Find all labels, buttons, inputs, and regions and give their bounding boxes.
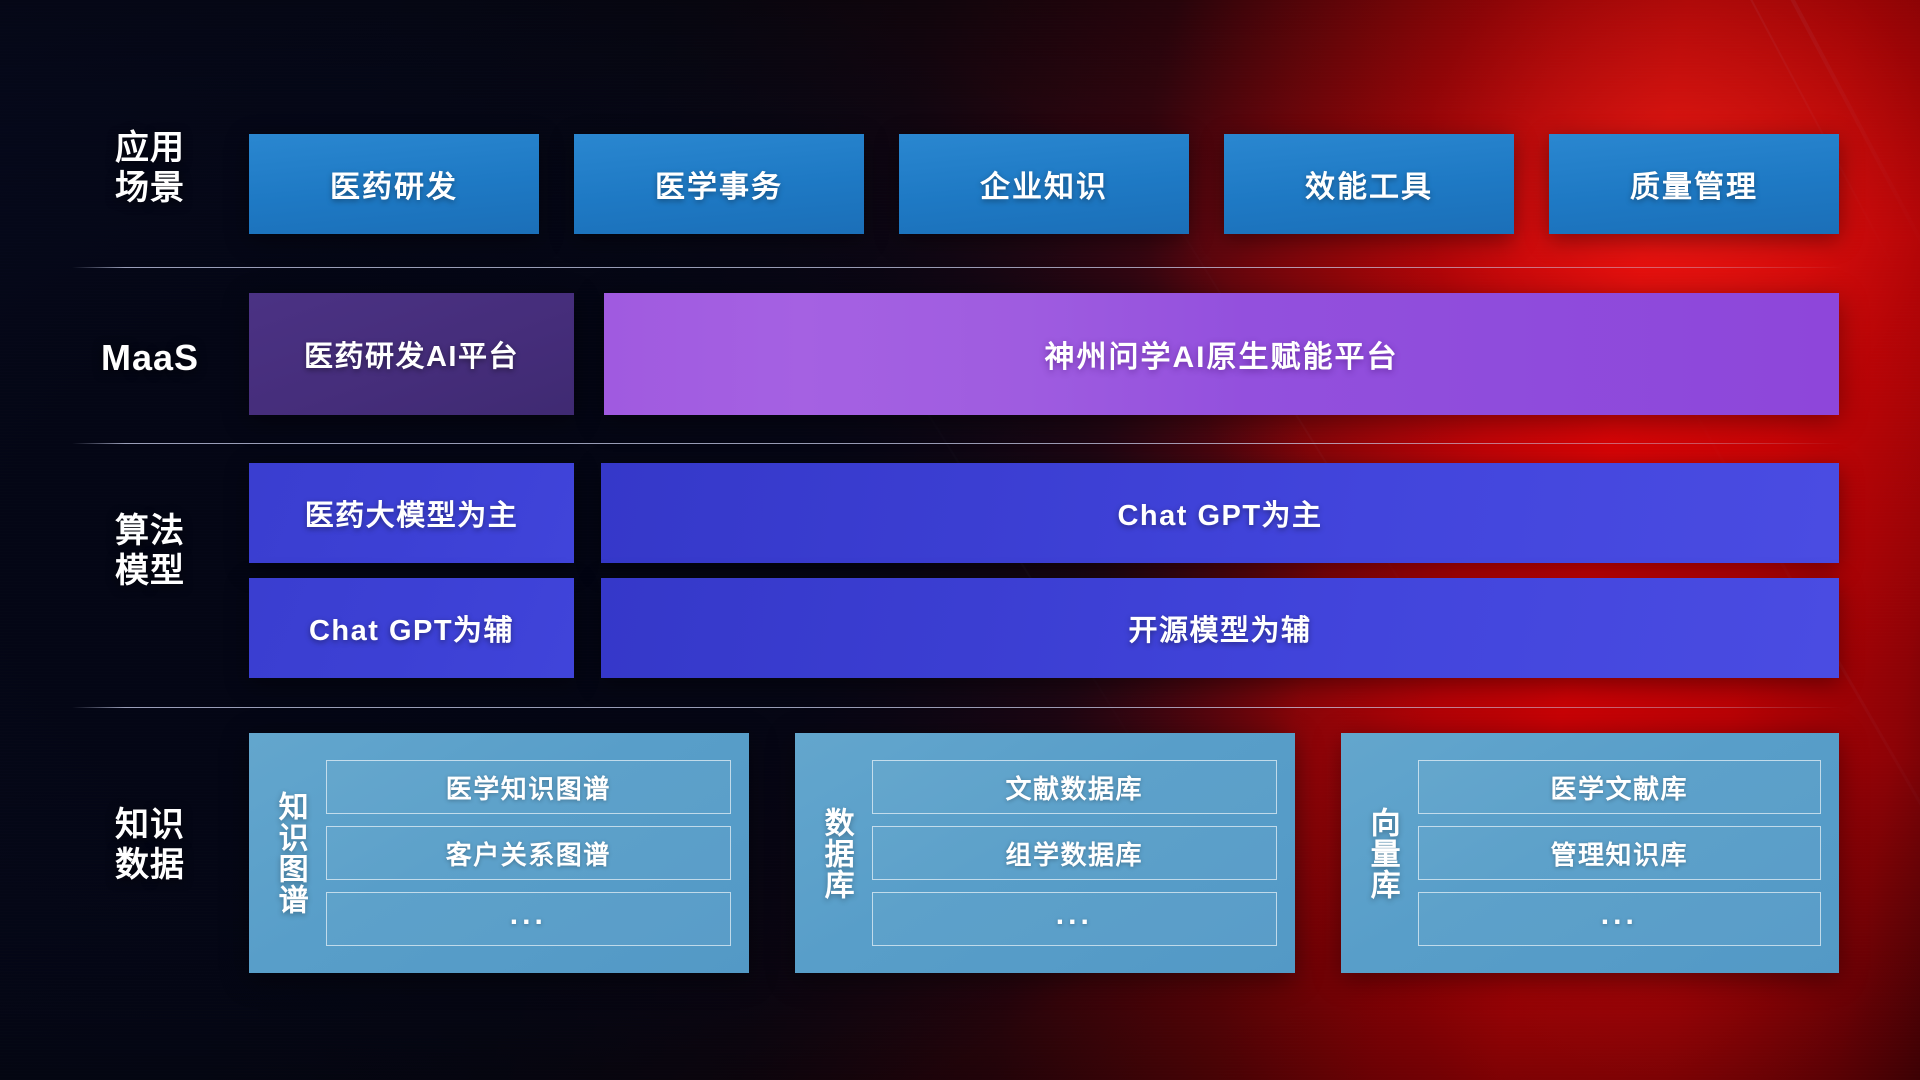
app-scenario-box-1[interactable]: 医药研发: [249, 134, 539, 234]
app-scenario-box-5[interactable]: 质量管理: [1549, 134, 1839, 234]
algo-box-chatgpt-primary[interactable]: Chat GPT为主: [601, 463, 1839, 563]
knowledge-item[interactable]: 医学知识图谱: [326, 760, 731, 814]
knowledge-item[interactable]: 组学数据库: [872, 826, 1277, 880]
knowledge-item[interactable]: 医学文献库: [1418, 760, 1821, 814]
knowledge-panel-vector-store[interactable]: 向量库 医学文献库 管理知识库 ...: [1341, 733, 1839, 973]
knowledge-panel-knowledge-graph[interactable]: 知识图谱 医学知识图谱 客户关系图谱 ...: [249, 733, 749, 973]
knowledge-item-more[interactable]: ...: [872, 892, 1277, 946]
row-label-application-scenarios: 应用 场景: [75, 128, 225, 208]
app-scenario-box-3[interactable]: 企业知识: [899, 134, 1189, 234]
knowledge-panel-label-database: 数据库: [817, 753, 854, 953]
knowledge-panel-database[interactable]: 数据库 文献数据库 组学数据库 ...: [795, 733, 1295, 973]
knowledge-item[interactable]: 客户关系图谱: [326, 826, 731, 880]
app-scenario-box-4[interactable]: 效能工具: [1224, 134, 1514, 234]
divider-after-maas: [72, 443, 1842, 444]
maas-box-shenzhou-wenxue-platform[interactable]: 神州问学AI原生赋能平台: [604, 293, 1839, 415]
divider-after-application-scenarios: [72, 267, 1842, 268]
algo-box-medical-large-model-primary[interactable]: 医药大模型为主: [249, 463, 574, 563]
diagram-canvas: 应用 场景 医药研发 医学事务 企业知识 效能工具 质量管理 MaaS 医药研发…: [0, 0, 1920, 1080]
knowledge-panel-label-knowledge-graph: 知识图谱: [271, 753, 308, 953]
knowledge-item-list-vector-store: 医学文献库 管理知识库 ...: [1418, 760, 1821, 946]
maas-box-medical-ai-platform[interactable]: 医药研发AI平台: [249, 293, 574, 415]
knowledge-item[interactable]: 文献数据库: [872, 760, 1277, 814]
knowledge-item-list-knowledge-graph: 医学知识图谱 客户关系图谱 ...: [326, 760, 731, 946]
algo-box-opensource-secondary[interactable]: 开源模型为辅: [601, 578, 1839, 678]
row-label-knowledge-data: 知识 数据: [75, 805, 225, 885]
knowledge-item-more[interactable]: ...: [1418, 892, 1821, 946]
knowledge-item-list-database: 文献数据库 组学数据库 ...: [872, 760, 1277, 946]
knowledge-item-more[interactable]: ...: [326, 892, 731, 946]
divider-after-algorithm-models: [72, 707, 1842, 708]
row-label-maas: MaaS: [75, 337, 225, 379]
row-label-algorithm-models: 算法 模型: [75, 511, 225, 591]
knowledge-panel-label-vector-store: 向量库: [1363, 753, 1400, 953]
algo-box-chatgpt-secondary[interactable]: Chat GPT为辅: [249, 578, 574, 678]
app-scenario-box-2[interactable]: 医学事务: [574, 134, 864, 234]
knowledge-item[interactable]: 管理知识库: [1418, 826, 1821, 880]
